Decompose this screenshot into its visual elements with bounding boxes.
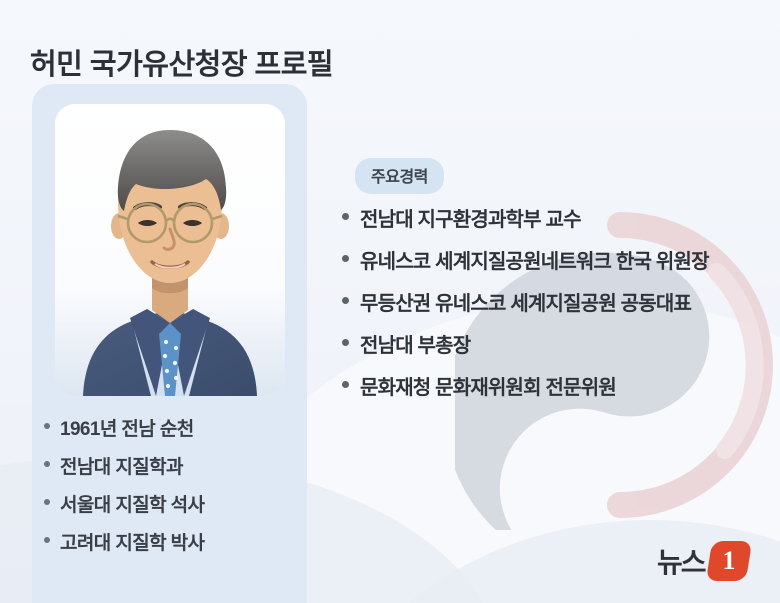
logo-numeral-badge-icon: 1 <box>705 541 751 581</box>
profile-photo <box>55 104 285 396</box>
list-item: 전남대 지질학과 <box>40 452 300 479</box>
list-item: 전남대 지구환경과학부 교수 <box>338 203 778 232</box>
infographic-canvas: 허민 국가유산청장 프로필 <box>0 0 780 603</box>
news1-logo: 뉴스 1 <box>657 541 749 581</box>
education-list: 1961년 전남 순천 전남대 지질학과 서울대 지질학 석사 고려대 지질학 … <box>40 414 300 566</box>
career-list: 전남대 지구환경과학부 교수 유네스코 세계지질공원네트워크 한국 위원장 무등… <box>338 203 778 413</box>
list-item: 무등산권 유네스코 세계지질공원 공동대표 <box>338 287 778 316</box>
list-item: 고려대 지질학 박사 <box>40 528 300 555</box>
list-item: 1961년 전남 순천 <box>40 414 300 441</box>
logo-wordmark: 뉴스 <box>657 541 705 581</box>
logo-numeral: 1 <box>709 546 749 576</box>
list-item: 유네스코 세계지질공원네트워크 한국 위원장 <box>338 245 778 274</box>
list-item: 전남대 부총장 <box>338 329 778 358</box>
list-item: 서울대 지질학 석사 <box>40 490 300 517</box>
list-item: 문화재청 문화재위원회 전문위원 <box>338 371 778 400</box>
page-title: 허민 국가유산청장 프로필 <box>30 41 333 83</box>
career-section-badge: 주요경력 <box>355 158 444 194</box>
